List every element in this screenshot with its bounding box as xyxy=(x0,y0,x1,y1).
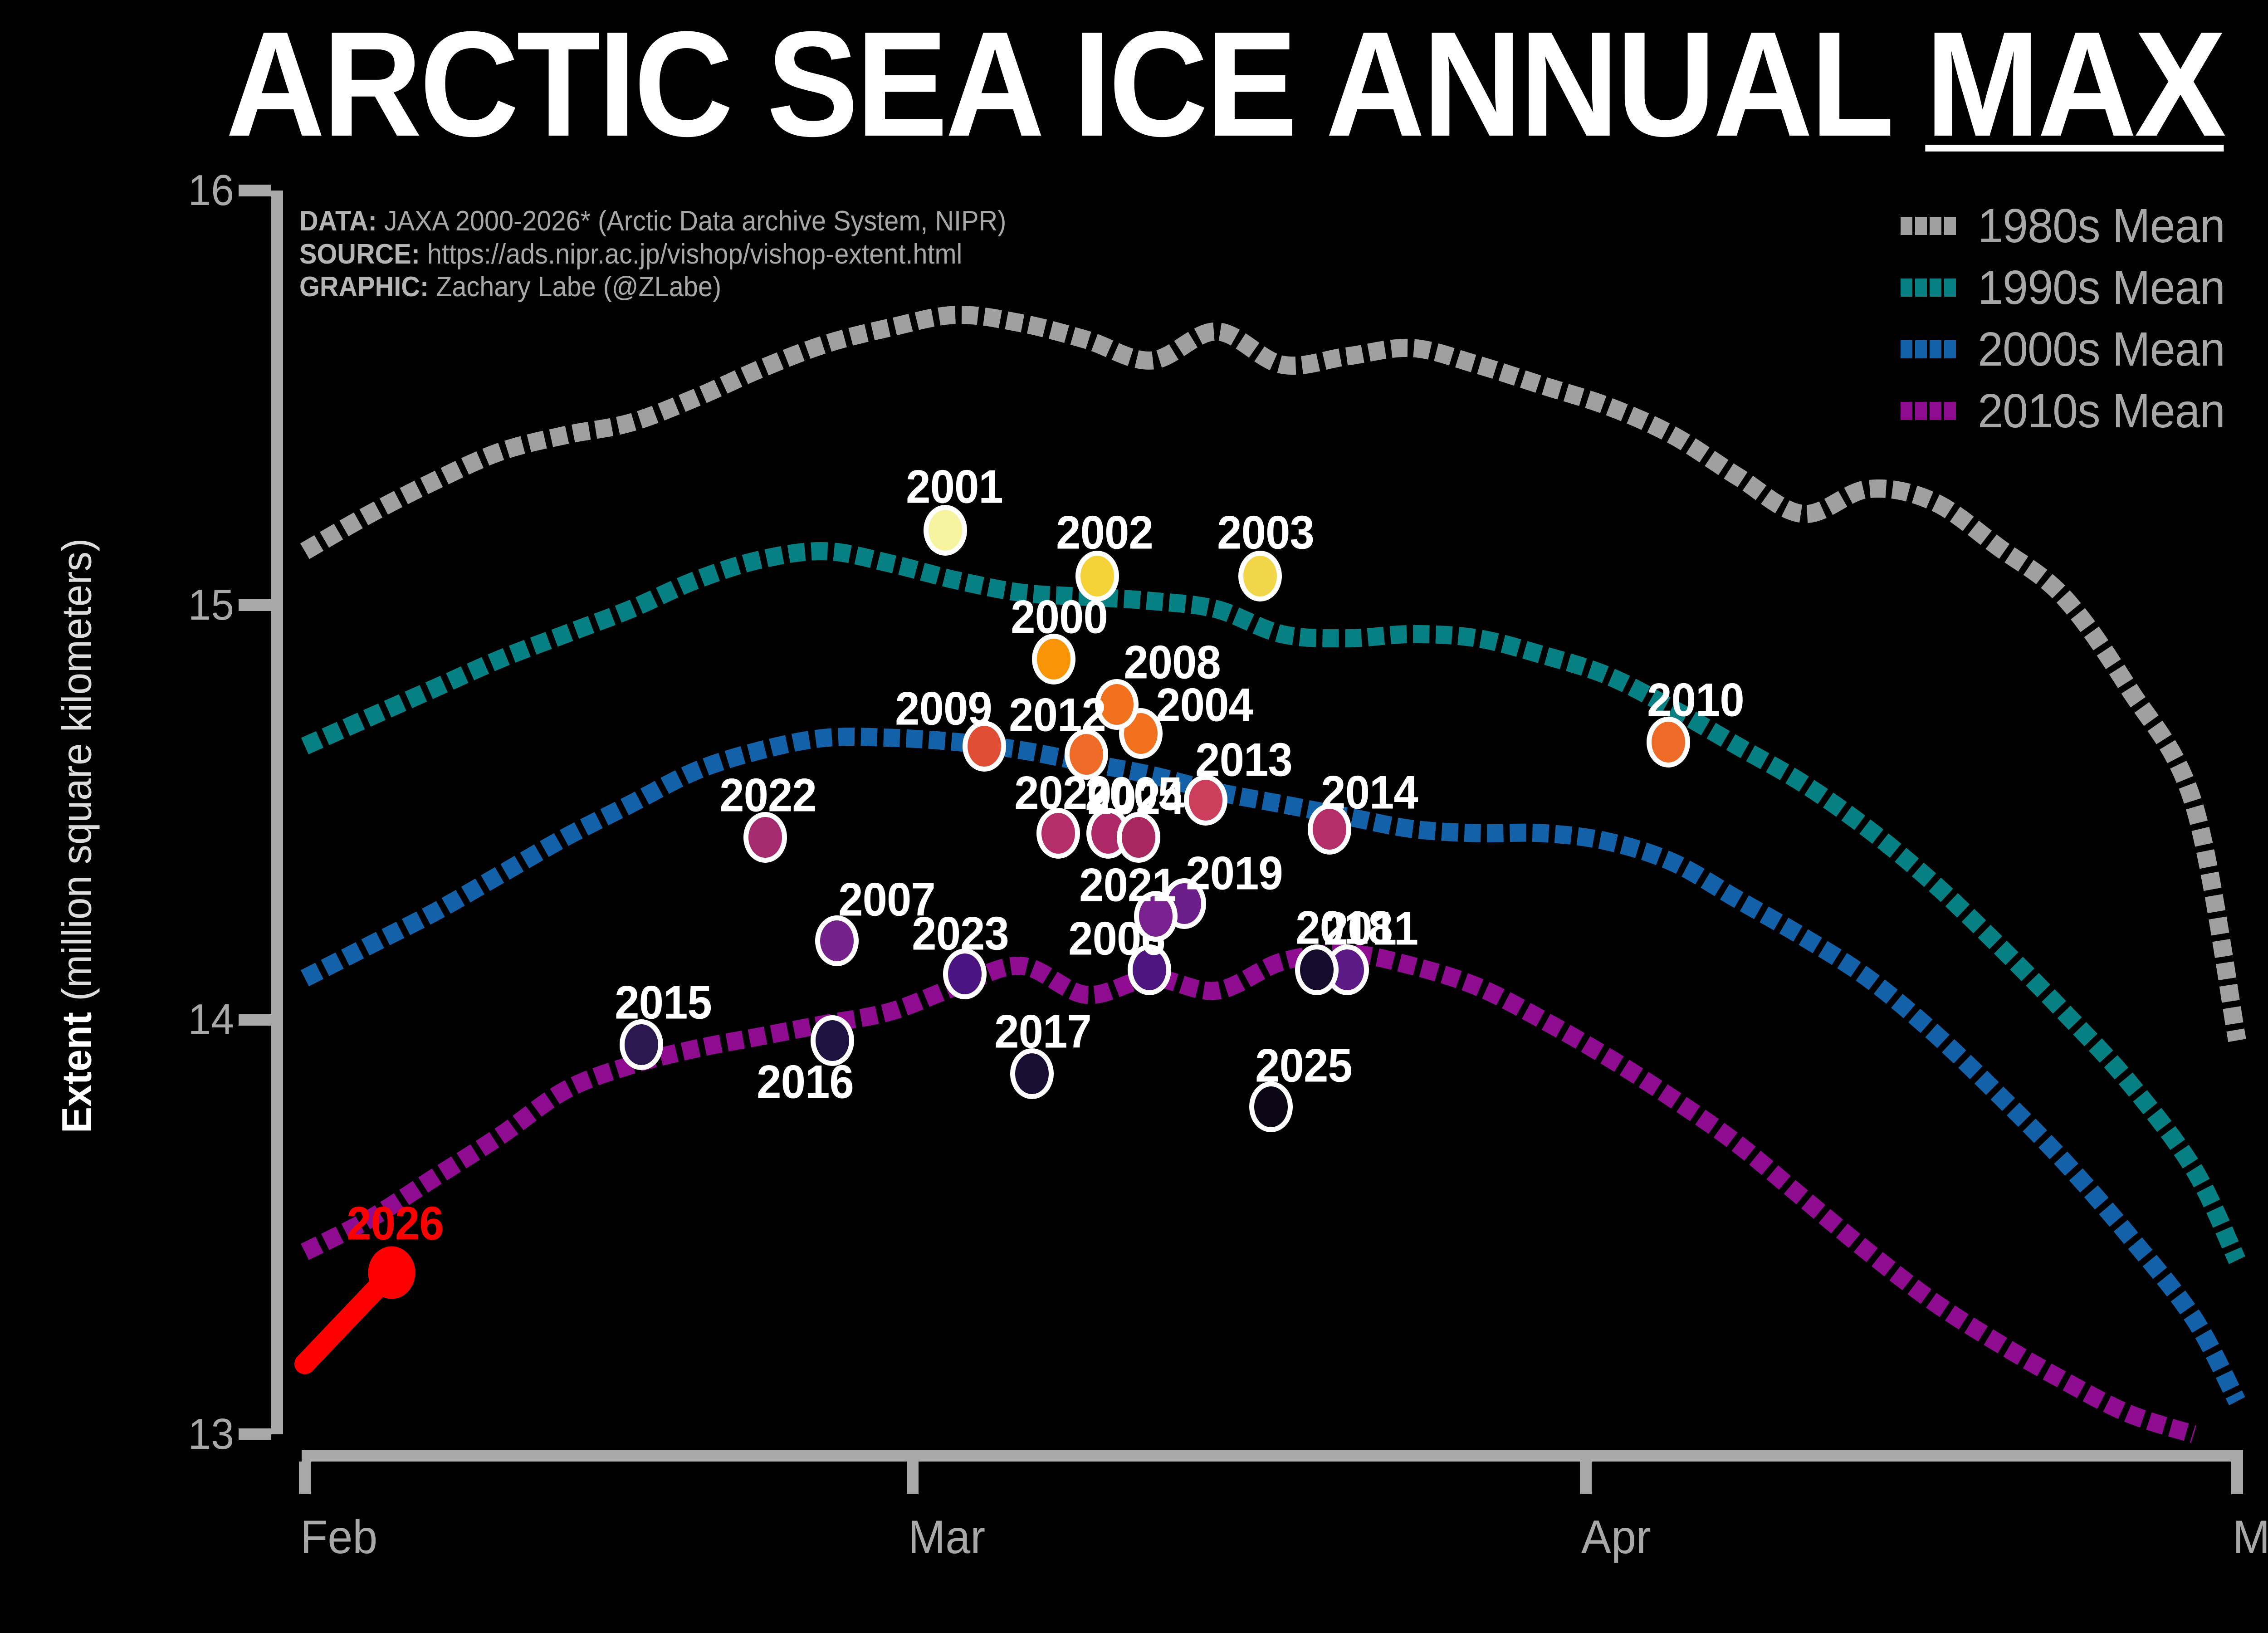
annual-max-label-2009: 2009 xyxy=(895,682,992,736)
annual-max-label-2017: 2017 xyxy=(995,1005,1092,1059)
annual-max-label-2008: 2008 xyxy=(1124,636,1221,690)
annual-max-label-2018: 2018 xyxy=(1295,901,1393,955)
annual-max-label-2013: 2013 xyxy=(1196,733,1293,787)
annual-max-label-2010: 2010 xyxy=(1647,673,1744,727)
annual-max-label-2022: 2022 xyxy=(719,768,816,822)
annual-max-label-2003: 2003 xyxy=(1217,506,1314,560)
annual-max-label-2001: 2001 xyxy=(906,460,1003,514)
series-line-2010s-mean xyxy=(305,953,2194,1434)
annual-max-label-2012: 2012 xyxy=(1009,689,1106,743)
annual-max-label-2025: 2025 xyxy=(1255,1039,1352,1093)
current-year-marker xyxy=(368,1247,415,1299)
annual-max-label-2015: 2015 xyxy=(615,976,712,1030)
series-line-1990s-mean xyxy=(305,551,2237,1260)
annual-max-label-2023: 2023 xyxy=(912,907,1009,961)
chart-canvas: ARCTIC SEA ICE ANNUAL MAX DATA: JAXA 200… xyxy=(0,0,2268,1633)
series-label-2026: 2026 xyxy=(347,1197,444,1251)
annual-max-label-2019: 2019 xyxy=(1186,847,1283,901)
annual-max-label-2002: 2002 xyxy=(1056,506,1153,560)
annual-max-label-2024: 2024 xyxy=(1087,771,1184,825)
series-line-1980s-mean xyxy=(305,315,2237,1041)
annual-max-label-2014: 2014 xyxy=(1321,766,1418,820)
annual-max-label-2016: 2016 xyxy=(757,1055,854,1109)
annual-max-label-2021: 2021 xyxy=(1079,858,1176,912)
